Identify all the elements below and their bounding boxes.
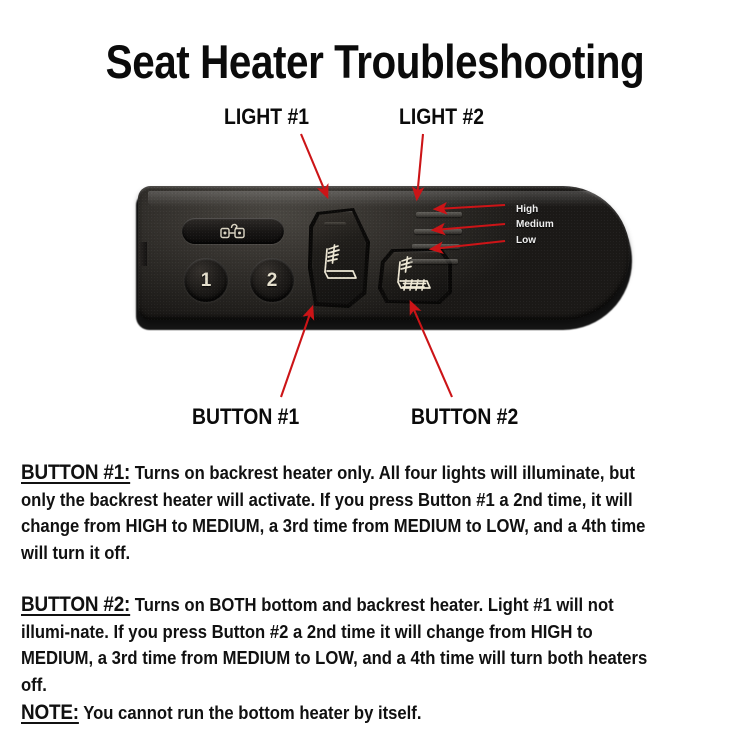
level-label-high: High: [516, 204, 538, 215]
preset-button-1[interactable]: 1: [184, 258, 228, 302]
paragraph-note-lead: NOTE:: [21, 701, 79, 724]
paragraph-note: NOTE: You cannot run the bottom heater b…: [21, 700, 662, 727]
paragraph-button-1-lead: BUTTON #1:: [21, 461, 130, 484]
paragraph-button-2: BUTTON #2: Turns on BOTH bottom and back…: [21, 592, 662, 698]
callout-label-button-2: BUTTON #2: [411, 404, 518, 430]
paragraph-button-1: BUTTON #1: Turns on backrest heater only…: [21, 460, 662, 566]
backrest-heater-button-notch: [324, 222, 346, 226]
seat-heater-control-panel: 1 2: [132, 182, 632, 332]
page-title: Seat Heater Troubleshooting: [53, 34, 698, 89]
callout-label-button-1: BUTTON #1: [192, 404, 299, 430]
both-heater-button-cap: [382, 251, 448, 301]
backrest-heater-button[interactable]: [308, 208, 370, 308]
indicator-light-3: [412, 244, 460, 249]
callout-label-light-2: LIGHT #2: [399, 104, 484, 130]
callout-label-light-1: LIGHT #1: [224, 104, 309, 130]
panel-highlight: [148, 191, 618, 207]
preset-button-2[interactable]: 2: [250, 258, 294, 302]
backrest-heater-button-cap: [312, 211, 366, 304]
indicator-light-2: [414, 229, 462, 234]
seat-full-heat-icon: [390, 256, 440, 296]
indicator-light-1: [416, 212, 462, 217]
panel-body: 1 2: [138, 186, 630, 320]
paragraph-button-2-lead: BUTTON #2:: [21, 593, 130, 616]
level-label-medium: Medium: [516, 219, 554, 230]
level-label-low: Low: [516, 235, 536, 246]
seat-backrest-heat-icon: [316, 244, 360, 290]
preset-button-2-label: 2: [267, 271, 278, 290]
indicator-light-4: [410, 259, 458, 264]
seat-memory-button[interactable]: [182, 218, 284, 244]
both-heater-button-recess: [378, 248, 452, 304]
panel-side-tab: [138, 242, 147, 266]
seat-memory-icon: [216, 222, 250, 240]
seat-heater-troubleshooting-page: Seat Heater Troubleshooting LIGHT #1 LIG…: [0, 0, 750, 750]
both-heater-button[interactable]: [378, 248, 452, 304]
paragraph-note-text: You cannot run the bottom heater by itse…: [79, 702, 422, 723]
backrest-heater-button-recess: [308, 208, 370, 308]
preset-button-1-label: 1: [201, 271, 212, 290]
